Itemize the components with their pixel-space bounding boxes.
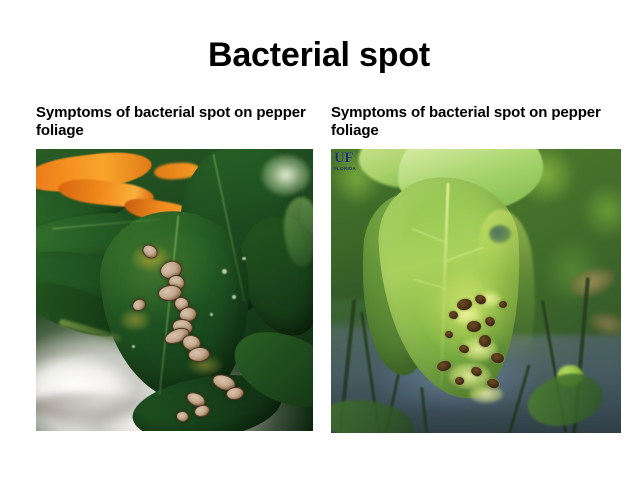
left-leaf-fleck — [210, 313, 213, 316]
left-leaf-fleck — [132, 345, 135, 348]
photo-pepper-foliage-right: UF FLORIDA — [331, 149, 621, 433]
left-ground-shadow — [36, 393, 146, 419]
right-chlorotic-blotch — [469, 385, 503, 403]
uf-watermark-subtext: FLORIDA — [334, 167, 360, 172]
left-sun-highlight-1 — [262, 155, 310, 195]
right-necrotic-spot — [449, 310, 459, 319]
caption-right: Symptoms of bacterial spot on pepper fol… — [331, 104, 613, 141]
photo-pepper-foliage-left — [36, 149, 313, 431]
left-leaf-fleck — [242, 257, 246, 260]
caption-left: Symptoms of bacterial spot on pepper fol… — [36, 104, 314, 141]
right-necrotic-spot — [455, 376, 465, 385]
left-leaf-fleck — [232, 295, 236, 299]
page-title: Bacterial spot — [0, 38, 638, 74]
content-column-right: Symptoms of bacterial spot on pepper fol… — [331, 104, 613, 433]
content-column-left: Symptoms of bacterial spot on pepper fol… — [36, 104, 314, 431]
left-leaf-fleck — [222, 269, 227, 274]
uf-watermark-letters: UF — [334, 151, 360, 166]
uf-watermark: UF FLORIDA — [334, 151, 360, 175]
left-chlorotic-halo-2 — [120, 309, 150, 331]
slide: Bacterial spot Symptoms of bacterial spo… — [0, 0, 638, 479]
right-leaf-notch — [489, 225, 511, 243]
